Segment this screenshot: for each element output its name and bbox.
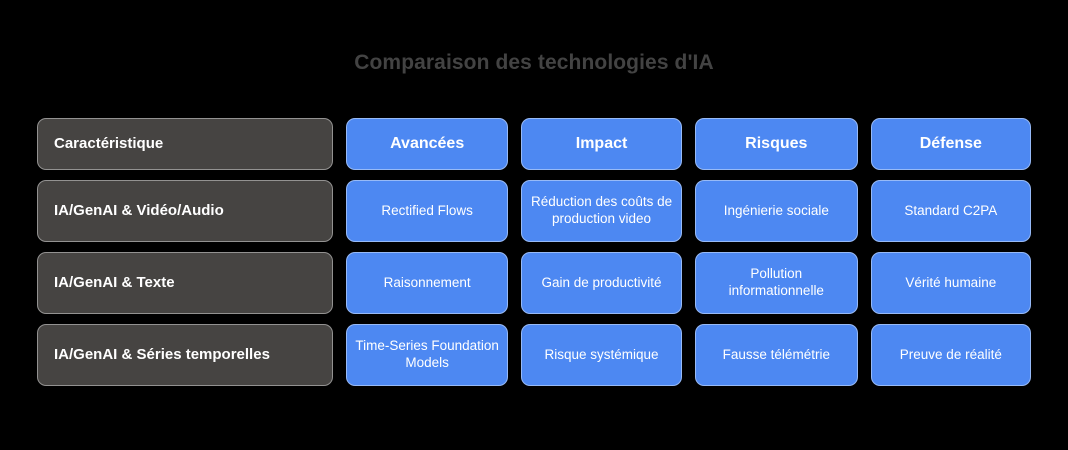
column-gap — [858, 324, 871, 386]
cell-label-feature: IA/GenAI & Texte — [54, 274, 316, 292]
column-gap — [858, 252, 871, 314]
cell-feature: IA/GenAI & Séries temporelles — [37, 324, 333, 386]
header-chip-risques[interactable]: Risques — [695, 118, 858, 170]
table-row: IA/GenAI & Vidéo/Audio Rectified Flows R… — [37, 180, 1031, 242]
row-gap-cell — [37, 242, 1031, 252]
header-label-impact: Impact — [530, 134, 673, 154]
column-gap — [333, 324, 346, 386]
chip-feature[interactable]: IA/GenAI & Vidéo/Audio — [37, 180, 333, 242]
header-label-avancees: Avancées — [355, 134, 499, 154]
cell-label-feature: IA/GenAI & Vidéo/Audio — [54, 202, 316, 220]
cell-feature: IA/GenAI & Texte — [37, 252, 333, 314]
cell-label-feature: IA/GenAI & Séries temporelles — [54, 346, 316, 364]
cell-feature: IA/GenAI & Vidéo/Audio — [37, 180, 333, 242]
header-label-defense: Défense — [880, 134, 1022, 154]
cell-label-impact: Risque systémique — [530, 347, 673, 364]
column-gap — [333, 252, 346, 314]
chip-avancees[interactable]: Time-Series Foundation Models — [346, 324, 508, 386]
column-gap — [682, 118, 695, 170]
comparison-table: Caractéristique Avancées Impact — [37, 118, 1031, 386]
column-gap — [682, 324, 695, 386]
row-gap-cell — [37, 170, 1031, 180]
column-gap — [858, 180, 871, 242]
cell-risques: Fausse télémétrie — [695, 324, 858, 386]
chip-impact[interactable]: Risque systémique — [521, 324, 682, 386]
chip-risques[interactable]: Fausse télémétrie — [695, 324, 858, 386]
cell-label-impact: Réduction des coûts de production video — [530, 194, 673, 228]
header-chip-defense[interactable]: Défense — [871, 118, 1031, 170]
header-cell-impact: Impact — [521, 118, 682, 170]
chip-feature[interactable]: IA/GenAI & Texte — [37, 252, 333, 314]
column-gap — [508, 118, 521, 170]
cell-avancees: Raisonnement — [346, 252, 508, 314]
column-gap — [508, 180, 521, 242]
column-gap — [333, 180, 346, 242]
chip-defense[interactable]: Vérité humaine — [871, 252, 1031, 314]
cell-label-risques: Ingénierie sociale — [704, 203, 849, 220]
table-row: IA/GenAI & Texte Raisonnement Gain de pr… — [37, 252, 1031, 314]
cell-defense: Standard C2PA — [871, 180, 1031, 242]
cell-label-risques: Pollution informationnelle — [704, 266, 849, 300]
chip-feature[interactable]: IA/GenAI & Séries temporelles — [37, 324, 333, 386]
row-gap — [37, 242, 1031, 252]
header-chip-avancees[interactable]: Avancées — [346, 118, 508, 170]
table-row: IA/GenAI & Séries temporelles Time-Serie… — [37, 324, 1031, 386]
cell-impact: Réduction des coûts de production video — [521, 180, 682, 242]
cell-risques: Ingénierie sociale — [695, 180, 858, 242]
row-gap-cell — [37, 314, 1031, 324]
column-gap — [682, 252, 695, 314]
header-chip-feature[interactable]: Caractéristique — [37, 118, 333, 170]
chip-impact[interactable]: Gain de productivité — [521, 252, 682, 314]
cell-label-avancees: Time-Series Foundation Models — [355, 338, 499, 372]
cell-label-avancees: Rectified Flows — [355, 203, 499, 220]
cell-label-defense: Standard C2PA — [880, 203, 1022, 220]
cell-risques: Pollution informationnelle — [695, 252, 858, 314]
column-gap — [858, 118, 871, 170]
column-gap — [682, 180, 695, 242]
column-gap — [333, 118, 346, 170]
row-gap — [37, 170, 1031, 180]
chip-avancees[interactable]: Raisonnement — [346, 252, 508, 314]
chip-impact[interactable]: Réduction des coûts de production video — [521, 180, 682, 242]
cell-label-avancees: Raisonnement — [355, 275, 499, 292]
cell-avancees: Rectified Flows — [346, 180, 508, 242]
header-cell-feature: Caractéristique — [37, 118, 333, 170]
chip-avancees[interactable]: Rectified Flows — [346, 180, 508, 242]
column-gap — [508, 324, 521, 386]
cell-label-impact: Gain de productivité — [530, 275, 673, 292]
header-chip-impact[interactable]: Impact — [521, 118, 682, 170]
cell-impact: Risque systémique — [521, 324, 682, 386]
chip-risques[interactable]: Pollution informationnelle — [695, 252, 858, 314]
column-gap — [508, 252, 521, 314]
cell-avancees: Time-Series Foundation Models — [346, 324, 508, 386]
header-label-risques: Risques — [704, 134, 849, 154]
cell-label-defense: Preuve de réalité — [880, 347, 1022, 364]
row-gap — [37, 314, 1031, 324]
header-cell-avancees: Avancées — [346, 118, 508, 170]
comparison-matrix-page: Comparaison des technologies d'IA Caract… — [0, 0, 1068, 450]
header-cell-risques: Risques — [695, 118, 858, 170]
cell-defense: Preuve de réalité — [871, 324, 1031, 386]
cell-label-defense: Vérité humaine — [880, 275, 1022, 292]
cell-label-risques: Fausse télémétrie — [704, 347, 849, 364]
table-header-row: Caractéristique Avancées Impact — [37, 118, 1031, 170]
chip-defense[interactable]: Preuve de réalité — [871, 324, 1031, 386]
header-label-feature: Caractéristique — [54, 135, 316, 153]
chip-defense[interactable]: Standard C2PA — [871, 180, 1031, 242]
page-title: Comparaison des technologies d'IA — [0, 51, 1068, 75]
chip-risques[interactable]: Ingénierie sociale — [695, 180, 858, 242]
cell-impact: Gain de productivité — [521, 252, 682, 314]
header-cell-defense: Défense — [871, 118, 1031, 170]
cell-defense: Vérité humaine — [871, 252, 1031, 314]
